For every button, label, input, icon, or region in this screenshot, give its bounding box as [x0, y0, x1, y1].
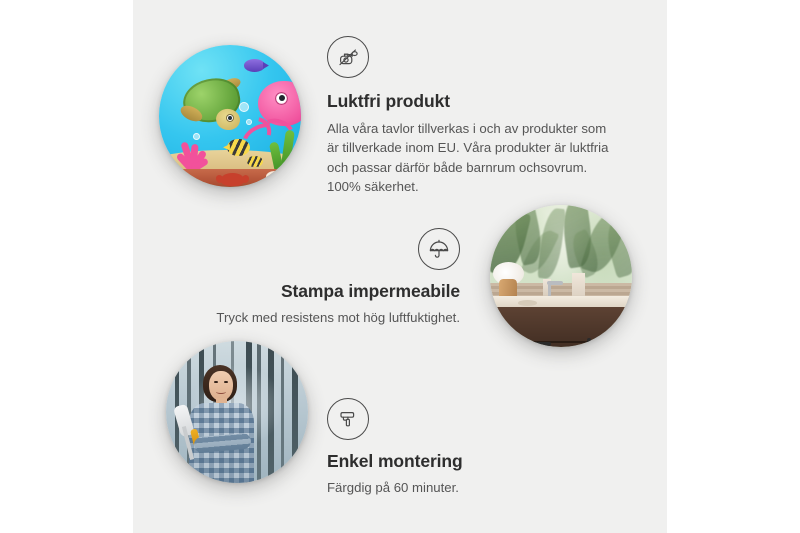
bubble: [246, 119, 252, 125]
striped-fish: [227, 139, 250, 156]
infographic-page: Luktfri produkt Alla våra tavlor tillver…: [0, 0, 800, 533]
woman-eye: [214, 381, 217, 383]
wood-vanity-cabinet: [490, 307, 632, 347]
bathroom-interior-photo: [490, 205, 632, 347]
feature-odourless-text: Luktfri produkt Alla våra tavlor tillver…: [327, 36, 619, 197]
drawer-handle: [521, 342, 551, 346]
content-panel: Luktfri produkt Alla våra tavlor tillver…: [133, 0, 667, 533]
bubble: [239, 102, 249, 112]
octopus-eye: [275, 92, 288, 105]
soap-dish: [518, 300, 536, 306]
feature-body: Alla våra tavlor tillverkas i och av pro…: [327, 119, 619, 197]
feature-easy-mounting-text: Enkel montering Färgdig på 60 minuter.: [327, 398, 607, 497]
sea-shell: [266, 171, 284, 182]
paint-roller-icon: [327, 398, 369, 440]
feature-title: Stampa impermeabile: [188, 281, 460, 302]
crab: [221, 173, 244, 186]
feature-body: Färgdig på 60 minuter.: [327, 478, 607, 497]
woman-face: [209, 371, 233, 401]
pink-coral: [170, 130, 213, 170]
drawer-seam: [490, 341, 632, 343]
cabinet-handle: [587, 338, 591, 344]
woman-eye: [224, 381, 227, 383]
striped-fish: [247, 156, 263, 167]
feature-title: Enkel montering: [327, 451, 607, 472]
no-fragrance-icon: [327, 36, 369, 78]
bathroom-artwork: [490, 205, 632, 347]
umbrella-icon: [418, 228, 460, 270]
woman-with-roller-photo: [166, 341, 308, 483]
woman-smile: [216, 389, 226, 393]
forest-mural-artwork: [166, 341, 308, 483]
underwater-artwork: [159, 45, 301, 187]
feature-title: Luktfri produkt: [327, 91, 619, 112]
feature-waterproof-text: Stampa impermeabile Tryck med resistens …: [188, 228, 460, 327]
feature-body: Tryck med resistens mot hög luftfuktighe…: [188, 308, 460, 327]
underwater-cartoon-photo: [159, 45, 301, 187]
